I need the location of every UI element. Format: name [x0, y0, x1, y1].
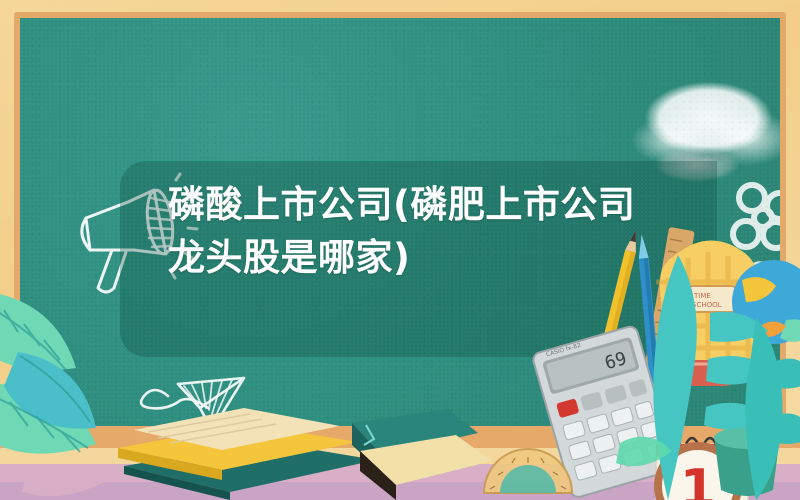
books-stack-center: [352, 415, 552, 500]
books-stack-left: [118, 400, 378, 500]
foliage-right: [560, 255, 800, 500]
poster-canvas: 磷酸上市公司(磷肥上市公司龙头股是哪家): [0, 0, 800, 500]
